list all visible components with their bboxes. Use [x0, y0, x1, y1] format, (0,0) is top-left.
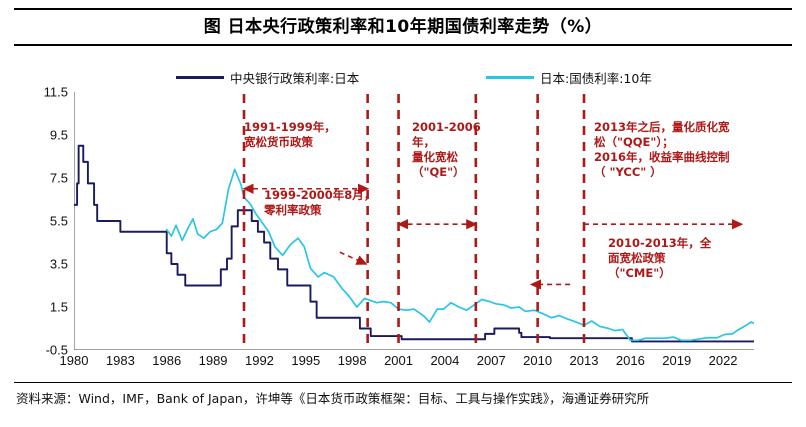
- chart-legend: 中央银行政策利率:日本 日本:国债利率:10年: [0, 68, 806, 86]
- annotation-qqe-ycc-2013: 2013年之后，量化质化宽 松（"QQE"）； 2016年，收益率曲线控制 （ …: [594, 120, 730, 180]
- annotation-easy-money-1991-1999: 1991-1999年， 宽松货币政策: [244, 120, 336, 150]
- x-axis-tick: 1986: [152, 353, 181, 368]
- footer-rule: [14, 382, 792, 383]
- x-axis-tick: 2019: [662, 353, 691, 368]
- x-axis-tick: 1992: [245, 353, 274, 368]
- y-axis-tick: 3.5: [50, 257, 68, 272]
- source-note: 资料来源：Wind，IMF，Bank of Japan，许坤等《日本货币政策框架…: [16, 390, 792, 407]
- chart-figure: 图 日本央行政策利率和10年期国债利率走势（%） 中央银行政策利率:日本 日本:…: [0, 0, 806, 427]
- x-axis-tick: 1998: [338, 353, 367, 368]
- legend-label-jgb-10y: 日本:国债利率:10年: [540, 68, 652, 87]
- page-title: 图 日本央行政策利率和10年期国债利率走势（%）: [0, 12, 806, 37]
- annotation-cme-2010-2013: 2010-2013年，全 面宽松政策 （"CME"）: [608, 236, 711, 281]
- legend-item-policy-rate: 中央银行政策利率:日本: [176, 68, 359, 87]
- y-axis-tick: 1.5: [50, 300, 68, 315]
- y-axis-tick: 11.5: [44, 85, 68, 100]
- x-axis-tick: 2016: [616, 353, 645, 368]
- x-axis-tick: 1983: [106, 353, 135, 368]
- y-axis-tick: 7.5: [50, 171, 68, 186]
- annotation-qe-2001-2006: 2001-2006 年， 量化宽松 （"QE"）: [412, 120, 481, 180]
- title-rule-bottom: [14, 44, 792, 46]
- x-axis-tick: 2010: [523, 353, 552, 368]
- x-axis-tick: 2013: [570, 353, 599, 368]
- legend-item-jgb-10y: 日本:国债利率:10年: [486, 68, 652, 87]
- legend-swatch-jgb-10y: [486, 76, 534, 79]
- y-axis-tick: 5.5: [50, 214, 68, 229]
- x-axis-tick: 1980: [60, 353, 89, 368]
- x-axis-tick-labels: 1980198319861989199219951998200120042007…: [0, 353, 806, 373]
- y-axis-tick: 9.5: [50, 128, 68, 143]
- legend-label-policy-rate: 中央银行政策利率:日本: [230, 68, 359, 87]
- legend-swatch-policy-rate: [176, 76, 224, 79]
- x-axis-tick: 1989: [199, 353, 228, 368]
- x-axis-tick: 2007: [477, 353, 506, 368]
- annotation-pointer-zirp: [340, 252, 366, 264]
- annotation-zirp-1999-2000: 1999-2000年8月， 零利率政策: [264, 188, 375, 218]
- x-axis-tick: 2004: [430, 353, 459, 368]
- x-axis-tick: 2022: [709, 353, 738, 368]
- x-axis-tick: 2001: [384, 353, 413, 368]
- title-rule-top: [14, 8, 792, 10]
- x-axis-tick: 1995: [291, 353, 320, 368]
